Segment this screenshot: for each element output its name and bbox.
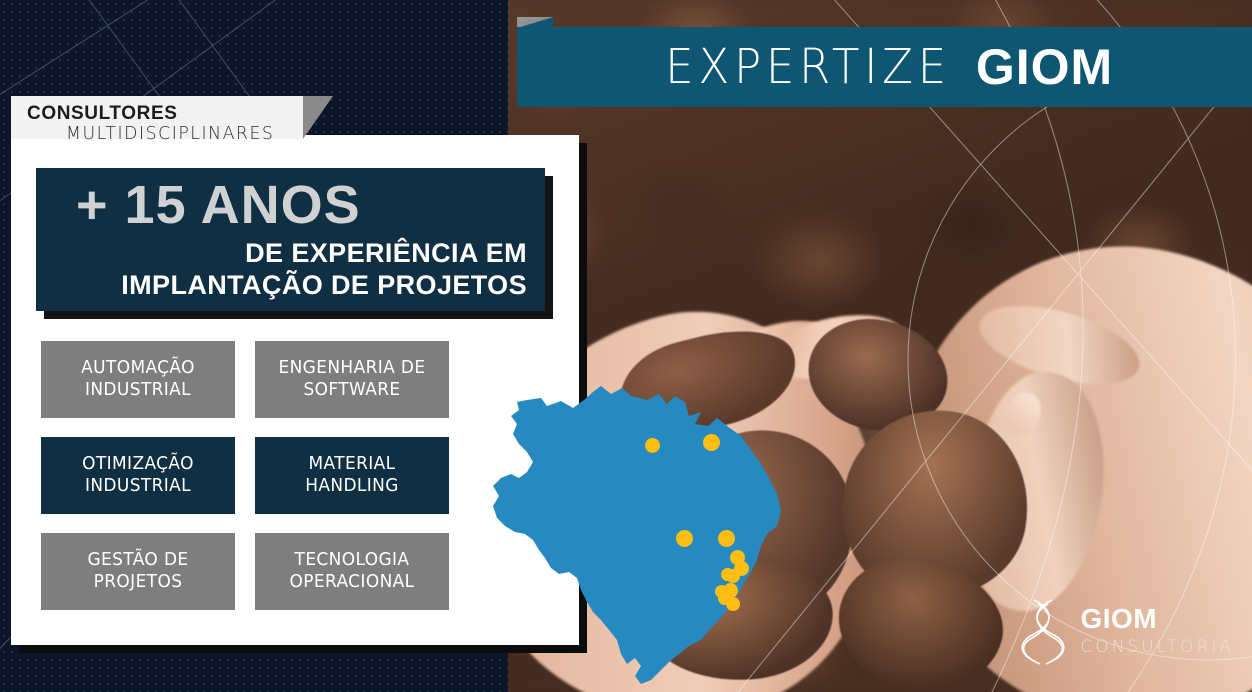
tab-corner-fold <box>303 96 333 139</box>
header-banner: EXPERTIZE GIOM <box>517 27 1252 107</box>
helix-icon <box>1020 594 1068 666</box>
map-marker <box>718 530 735 547</box>
tag-label-line2: SOFTWARE <box>303 380 400 400</box>
tag-label-line2: PROJETOS <box>94 572 183 592</box>
logo-text-block: GIOM CONSULTORIA <box>1080 605 1234 656</box>
tag-label-line1: ENGENHARIA DE <box>278 358 425 378</box>
service-tag-tecnologia-operacional[interactable]: TECNOLOGIA OPERACIONAL <box>255 533 449 610</box>
slide-canvas: EXPERTIZE GIOM CONSULTORES MULTIDISCIPLI… <box>0 0 1252 692</box>
headline-line-2: DE EXPERIÊNCIA EM <box>245 240 527 267</box>
tab-subtitle: MULTIDISCIPLINARES <box>66 123 274 144</box>
headline-line-3: IMPLANTAÇÃO DE PROJETOS <box>121 272 527 299</box>
tag-label-line2: HANDLING <box>305 476 399 496</box>
brazil-map <box>489 382 819 692</box>
map-marker <box>726 597 740 611</box>
tab-title: CONSULTORES <box>27 103 178 125</box>
map-marker <box>645 438 660 453</box>
tag-label-line1: TECNOLOGIA <box>295 550 410 570</box>
brazil-map-shape <box>489 382 819 692</box>
service-tag-grid: AUTOMAÇÃO INDUSTRIAL ENGENHARIA DE SOFTW… <box>38 341 452 609</box>
service-tag-automacao-industrial[interactable]: AUTOMAÇÃO INDUSTRIAL <box>41 341 235 418</box>
tag-label-line1: GESTÃO DE <box>87 550 188 570</box>
header-title: EXPERTIZE GIOM <box>517 27 1252 107</box>
map-marker <box>703 434 720 451</box>
giom-logo: GIOM CONSULTORIA <box>1020 594 1234 666</box>
logo-tagline: CONSULTORIA <box>1080 639 1234 656</box>
service-tag-otimizacao-industrial[interactable]: OTIMIZAÇÃO INDUSTRIAL <box>41 437 235 514</box>
tag-label-line1: OTIMIZAÇÃO <box>82 454 194 474</box>
service-tag-engenharia-de-software[interactable]: ENGENHARIA DE SOFTWARE <box>255 341 449 418</box>
tag-label-line2: INDUSTRIAL <box>85 476 191 496</box>
tag-label-line2: OPERACIONAL <box>289 572 414 592</box>
header-title-thin: EXPERTIZE <box>665 39 951 95</box>
header-title-bold: GIOM <box>976 38 1113 96</box>
tag-label-line1: AUTOMAÇÃO <box>81 358 195 378</box>
headline-box: + 15 ANOS DE EXPERIÊNCIA EM IMPLANTAÇÃO … <box>36 168 545 311</box>
service-tag-material-handling[interactable]: MATERIAL HANDLING <box>255 437 449 514</box>
tag-label-line1: MATERIAL <box>308 454 395 474</box>
logo-name: GIOM <box>1080 605 1234 633</box>
service-tag-gestao-de-projetos[interactable]: GESTÃO DE PROJETOS <box>41 533 235 610</box>
map-marker <box>676 530 693 547</box>
headline-line-1: + 15 ANOS <box>76 178 361 232</box>
tag-label-line2: INDUSTRIAL <box>85 380 191 400</box>
brazil-outline <box>493 386 781 684</box>
map-marker <box>721 568 734 581</box>
